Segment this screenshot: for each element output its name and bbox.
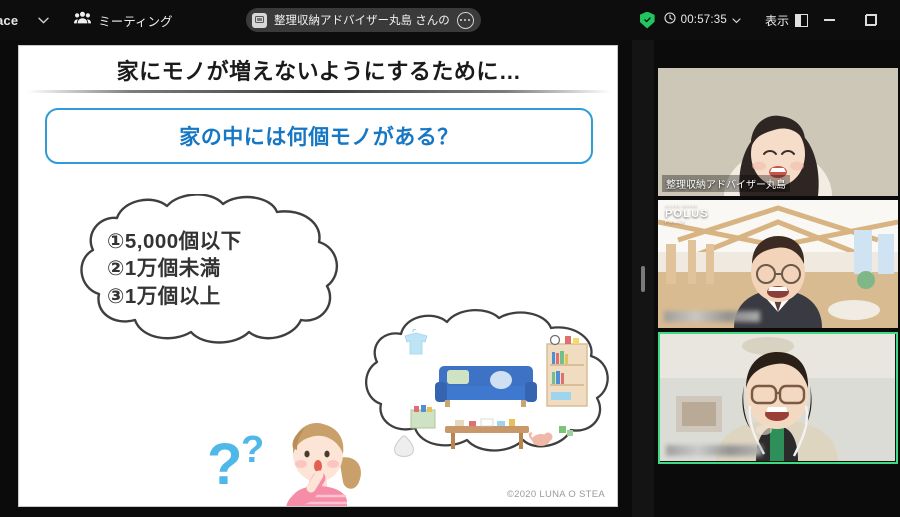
close-icon[interactable] <box>892 0 900 40</box>
participant-tile[interactable]: HOUSE BRAND POLUS POLUS <box>658 200 898 328</box>
meeting-tab[interactable]: ミーティング <box>74 11 172 30</box>
meeting-window: ace ミーティング <box>0 0 900 517</box>
participant-tile[interactable]: 整理収納アドバイザー丸島 <box>658 68 898 196</box>
shared-screen-stage: 家にモノが増えないようにするために… 家の中には何個モノがある？ ①5,000個… <box>0 40 632 517</box>
participant-video-panel: 整理収納アドバイザー丸島 <box>654 40 900 517</box>
view-label: 表示 <box>765 12 789 29</box>
question-box: 家の中には何個モノがある？ <box>45 108 593 164</box>
title-bar-right: 00:57:35 表示 <box>640 0 900 40</box>
drag-handle-icon[interactable] <box>641 266 645 292</box>
presentation-slide: 家にモノが増えないようにするために… 家の中には何個モノがある？ ①5,000個… <box>18 45 618 507</box>
title-bar: ace ミーティング <box>0 0 900 40</box>
thought-cloud-options: ①5,000個以下 ②1万個未満 ③1万個以上 <box>71 194 361 354</box>
title-bar-left: ace ミーティング <box>0 7 173 33</box>
svg-text:?: ? <box>207 432 242 497</box>
thinking-woman-illustration <box>261 418 391 507</box>
screen-share-icon <box>252 13 267 28</box>
shield-icon[interactable] <box>640 12 655 29</box>
people-icon <box>74 11 91 29</box>
thought-cloud-living-room <box>357 308 618 458</box>
question-box-label: 家の中には何個モノがある？ <box>179 121 459 151</box>
screen-share-chip[interactable]: 整理収納アドバイザー丸島 さんの <box>246 8 481 32</box>
page-title: 家にモノが増えないようにするために… <box>19 54 618 86</box>
chevron-down-icon[interactable] <box>732 11 741 29</box>
copyright-label: ©2020 LUNA O STEA <box>507 489 605 500</box>
clock-icon <box>664 11 676 29</box>
chevron-down-icon[interactable] <box>30 7 56 33</box>
view-toggle[interactable]: 表示 <box>765 12 808 29</box>
app-name-label: ace <box>0 13 18 28</box>
minimize-icon[interactable] <box>808 0 850 40</box>
participant-name-label-blurred <box>664 311 760 322</box>
option-3: ③1万個以上 <box>107 283 242 310</box>
screen-share-label: 整理収納アドバイザー丸島 さんの <box>274 12 450 28</box>
participant-tile-active-speaker[interactable] <box>658 332 898 464</box>
panel-divider[interactable] <box>632 40 654 517</box>
options-list: ①5,000個以下 ②1万個未満 ③1万個以上 <box>107 228 242 310</box>
ellipsis-icon[interactable] <box>457 12 474 29</box>
participant-name-label-blurred <box>666 445 762 456</box>
option-2: ②1万個未満 <box>107 255 242 282</box>
meeting-timer[interactable]: 00:57:35 <box>664 11 741 29</box>
timer-value: 00:57:35 <box>681 14 727 26</box>
layout-icon <box>795 14 808 27</box>
virtual-background-logo: HOUSE BRAND POLUS POLUS <box>665 205 709 224</box>
participant-name-label: 整理収納アドバイザー丸島 <box>662 175 790 192</box>
restore-icon[interactable] <box>850 0 892 40</box>
title-divider <box>27 90 611 93</box>
option-1: ①5,000個以下 <box>107 228 242 255</box>
meeting-tab-label: ミーティング <box>98 11 172 30</box>
